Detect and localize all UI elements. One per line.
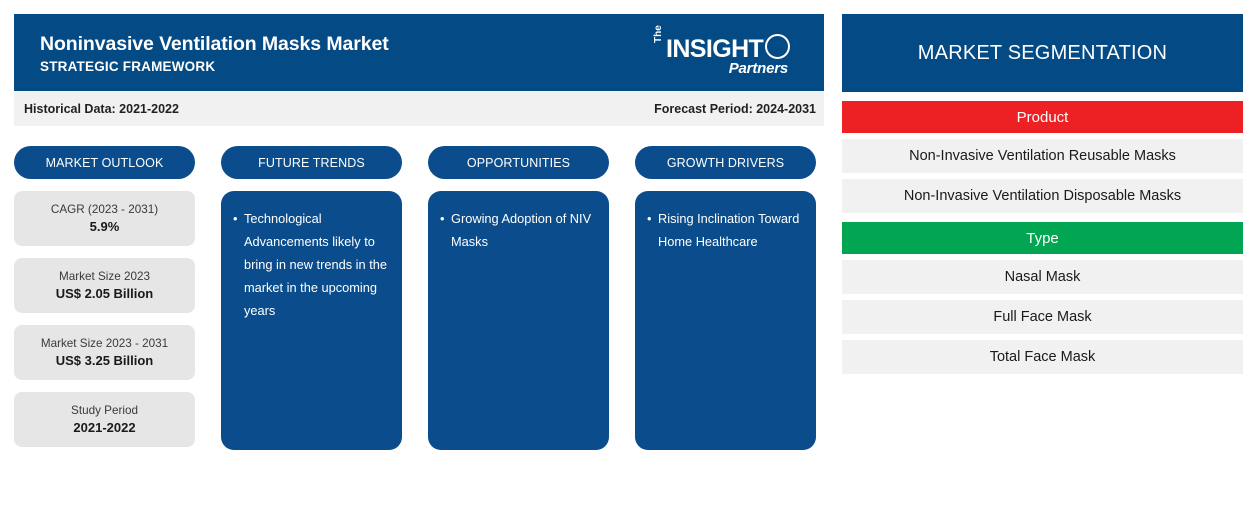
logo-insight-text: INSIGHT bbox=[666, 37, 763, 62]
pill-market-outlook[interactable]: MARKET OUTLOOK bbox=[14, 146, 195, 179]
stat-card-market-size-2031: Market Size 2023 - 2031 US$ 3.25 Billion bbox=[14, 325, 195, 380]
stat-card-market-size-2023: Market Size 2023 US$ 2.05 Billion bbox=[14, 258, 195, 313]
list-item: Rising Inclination Toward Home Healthcar… bbox=[647, 207, 802, 253]
logo-the-text: The bbox=[654, 25, 664, 43]
list-item: Nasal Mask bbox=[842, 260, 1243, 294]
strategic-framework-panel: Noninvasive Ventilation Masks Market STR… bbox=[14, 14, 824, 450]
logo-partners-text: Partners bbox=[729, 61, 788, 76]
list-item: Growing Adoption of NIV Masks bbox=[440, 207, 595, 253]
list-item: Full Face Mask bbox=[842, 300, 1243, 334]
segmentation-title: MARKET SEGMENTATION bbox=[842, 14, 1243, 92]
list-item: Total Face Mask bbox=[842, 340, 1243, 374]
report-header: Noninvasive Ventilation Masks Market STR… bbox=[14, 14, 824, 91]
stat-label: Market Size 2023 - 2031 bbox=[41, 337, 168, 350]
column-growth-drivers: GROWTH DRIVERS Rising Inclination Toward… bbox=[635, 146, 816, 450]
stat-label: CAGR (2023 - 2031) bbox=[51, 203, 158, 216]
column-market-outlook: MARKET OUTLOOK CAGR (2023 - 2031) 5.9% M… bbox=[14, 146, 195, 450]
page-title: Noninvasive Ventilation Masks Market bbox=[40, 32, 389, 56]
stat-label: Market Size 2023 bbox=[59, 270, 150, 283]
forecast-period-label: Forecast Period: 2024-2031 bbox=[654, 102, 816, 116]
period-bar: Historical Data: 2021-2022 Forecast Peri… bbox=[14, 91, 824, 126]
bullet-list: Rising Inclination Toward Home Healthcar… bbox=[647, 207, 802, 253]
segment-header-product: Product bbox=[842, 101, 1243, 133]
card-future-trends: Technological Advancements likely to bri… bbox=[221, 191, 402, 450]
column-future-trends: FUTURE TRENDS Technological Advancements… bbox=[221, 146, 402, 450]
pill-opportunities[interactable]: OPPORTUNITIES bbox=[428, 146, 609, 179]
list-item: Non-Invasive Ventilation Reusable Masks bbox=[842, 139, 1243, 173]
segmentation-group-type: Type Nasal Mask Full Face Mask Total Fac… bbox=[842, 222, 1243, 374]
stat-value: US$ 2.05 Billion bbox=[56, 286, 154, 301]
list-item: Technological Advancements likely to bri… bbox=[233, 207, 388, 322]
framework-columns: MARKET OUTLOOK CAGR (2023 - 2031) 5.9% M… bbox=[14, 146, 824, 450]
bullet-list: Growing Adoption of NIV Masks bbox=[440, 207, 595, 253]
market-segmentation-panel: MARKET SEGMENTATION Product Non-Invasive… bbox=[842, 14, 1243, 374]
insight-partners-logo: The INSIGHT Partners bbox=[654, 34, 792, 86]
logo-circle-icon bbox=[765, 34, 790, 59]
segmentation-group-product: Product Non-Invasive Ventilation Reusabl… bbox=[842, 101, 1243, 213]
page-subtitle: STRATEGIC FRAMEWORK bbox=[40, 57, 389, 76]
stat-value: 5.9% bbox=[90, 219, 120, 234]
stat-value: US$ 3.25 Billion bbox=[56, 353, 154, 368]
stat-card-study-period: Study Period 2021-2022 bbox=[14, 392, 195, 447]
list-item: Non-Invasive Ventilation Disposable Mask… bbox=[842, 179, 1243, 213]
pill-growth-drivers[interactable]: GROWTH DRIVERS bbox=[635, 146, 816, 179]
historical-data-label: Historical Data: 2021-2022 bbox=[24, 102, 179, 116]
stat-label: Study Period bbox=[71, 404, 138, 417]
stat-value: 2021-2022 bbox=[73, 420, 135, 435]
bullet-list: Technological Advancements likely to bri… bbox=[233, 207, 388, 322]
column-opportunities: OPPORTUNITIES Growing Adoption of NIV Ma… bbox=[428, 146, 609, 450]
card-growth-drivers: Rising Inclination Toward Home Healthcar… bbox=[635, 191, 816, 450]
segment-header-type: Type bbox=[842, 222, 1243, 254]
pill-future-trends[interactable]: FUTURE TRENDS bbox=[221, 146, 402, 179]
card-opportunities: Growing Adoption of NIV Masks bbox=[428, 191, 609, 450]
header-titles: Noninvasive Ventilation Masks Market STR… bbox=[40, 32, 389, 76]
stat-card-cagr: CAGR (2023 - 2031) 5.9% bbox=[14, 191, 195, 246]
